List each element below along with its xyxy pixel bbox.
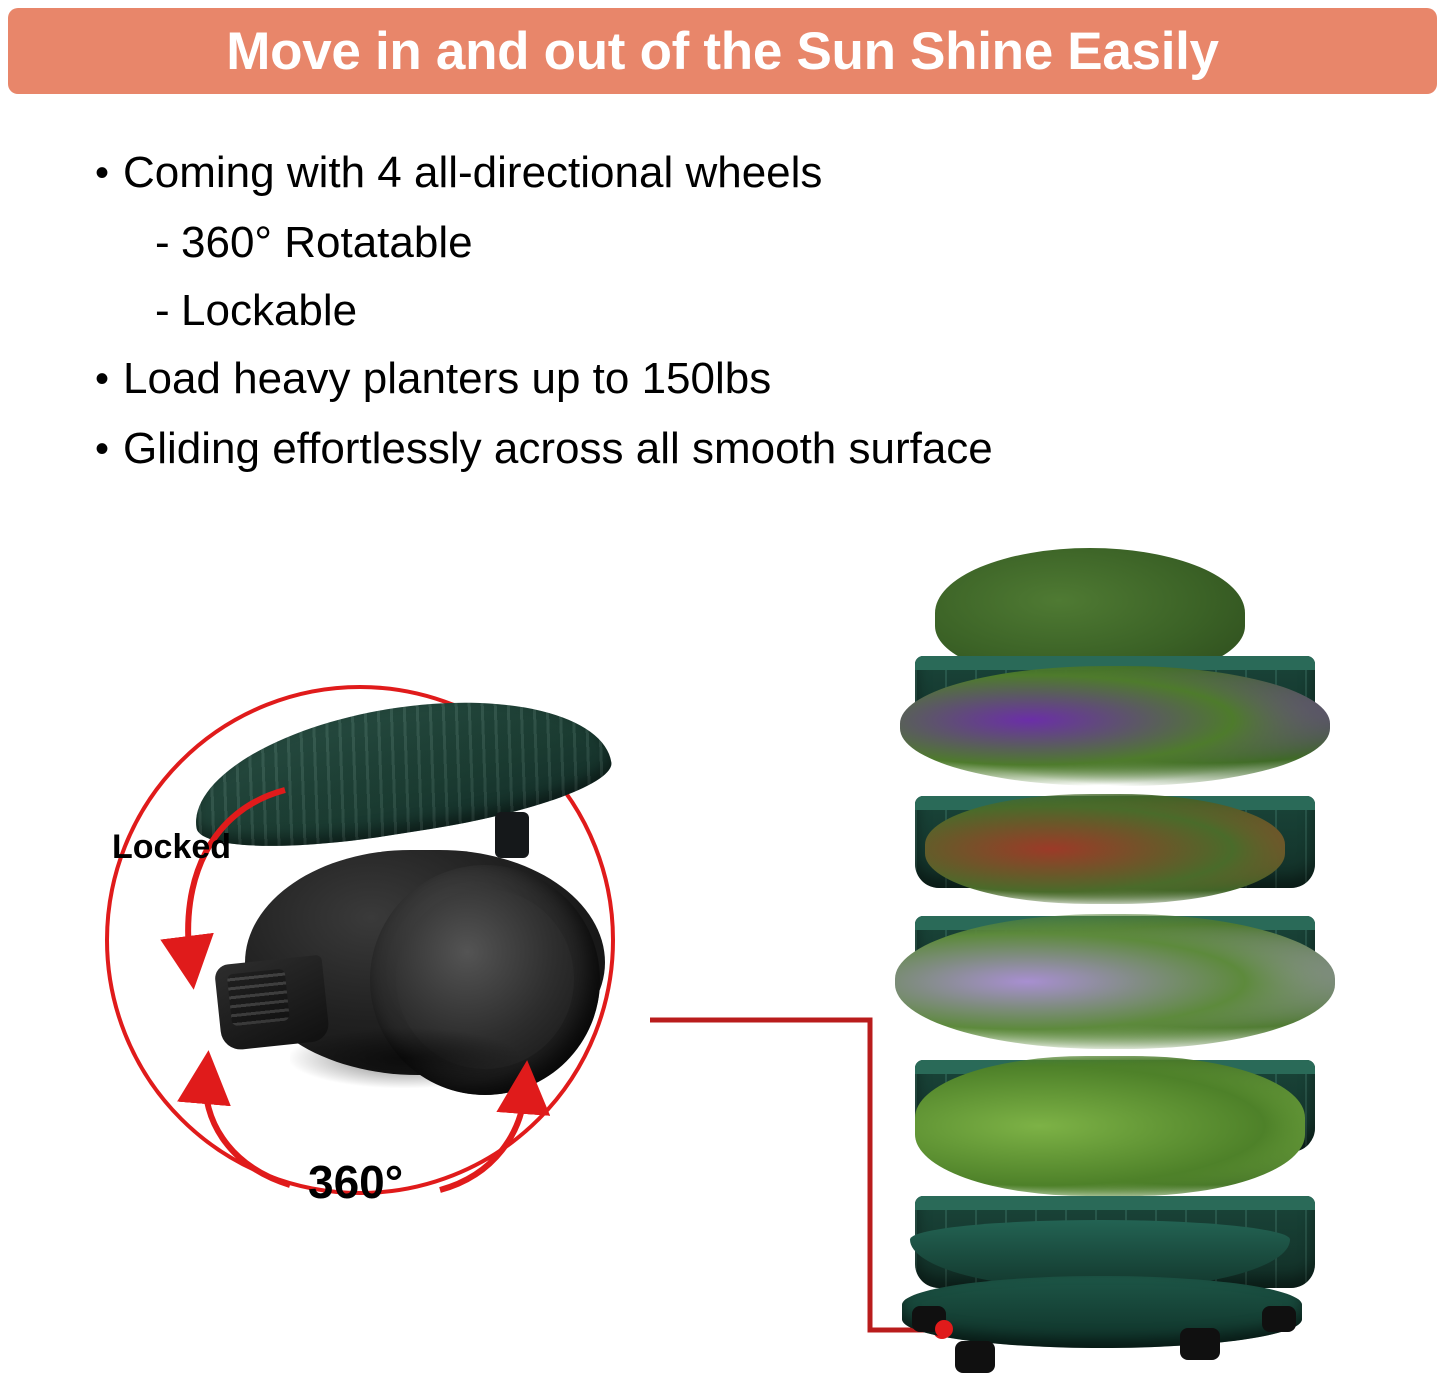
sub-feature-text: 360° Rotatable — [181, 210, 473, 276]
stackable-planter-tower — [880, 548, 1350, 1378]
list-item: - 360° Rotatable — [155, 210, 1425, 276]
caster-wheel-front-right — [1180, 1328, 1220, 1360]
banner-title: Move in and out of the Sun Shine Easily — [226, 21, 1218, 82]
purple-pansy-flowers — [900, 666, 1330, 786]
rotation-label: 360° — [308, 1155, 403, 1209]
list-item: - Lockable — [155, 278, 1425, 344]
callout-anchor-dot — [935, 1320, 953, 1338]
header-banner: Move in and out of the Sun Shine Easily — [8, 8, 1437, 94]
dash-icon: - — [155, 210, 181, 276]
bullet-icon: • — [95, 346, 123, 412]
lavender-lobelia-flowers — [895, 914, 1335, 1049]
feature-text: Gliding effortlessly across all smooth s… — [123, 416, 993, 482]
red-leaf-plant — [925, 794, 1285, 904]
bullet-icon: • — [95, 140, 123, 206]
caster-closeup: Locked 360° — [40, 660, 680, 1280]
list-item: • Load heavy planters up to 150lbs — [95, 346, 1425, 412]
caster-wheel-rear-right — [1262, 1306, 1296, 1332]
sub-feature-text: Lockable — [181, 278, 357, 344]
caster-shadow — [290, 1028, 520, 1088]
caster-stem — [495, 812, 529, 858]
caster-wheel-front-left — [955, 1341, 995, 1373]
list-item: • Coming with 4 all-directional wheels — [95, 140, 1425, 206]
bullet-icon: • — [95, 416, 123, 482]
dash-icon: - — [155, 278, 181, 344]
feature-list: • Coming with 4 all-directional wheels -… — [95, 140, 1425, 486]
list-item: • Gliding effortlessly across all smooth… — [95, 416, 1425, 482]
feature-text: Coming with 4 all-directional wheels — [123, 140, 822, 206]
basil-green-leaves — [915, 1056, 1305, 1196]
locked-label: Locked — [112, 828, 231, 867]
feature-text: Load heavy planters up to 150lbs — [123, 346, 771, 412]
wheeled-caster-tray — [902, 1276, 1302, 1348]
